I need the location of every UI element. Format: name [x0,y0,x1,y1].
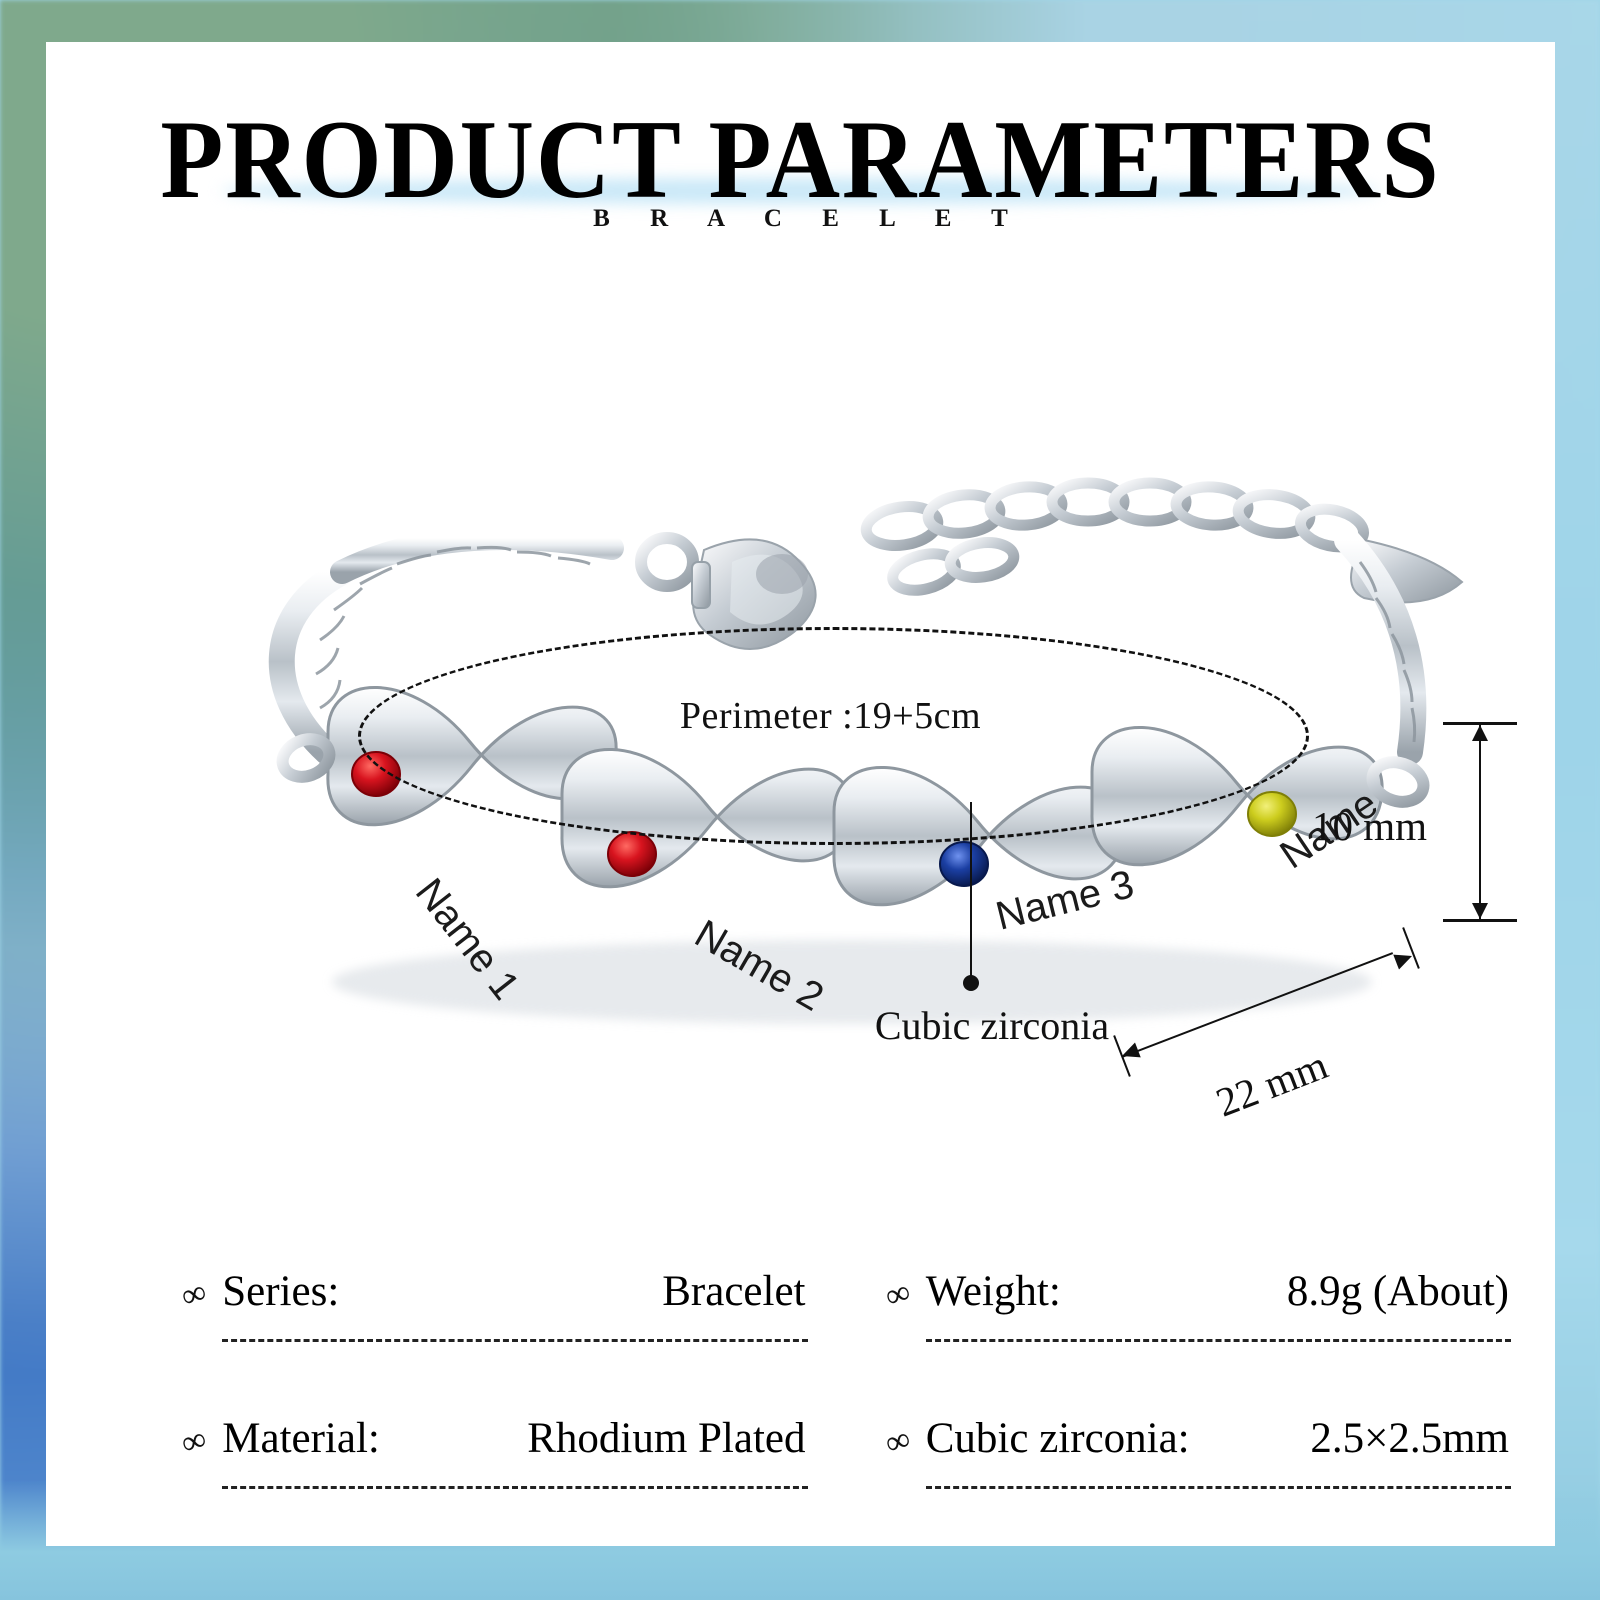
spec-row-series: ∞ Series: Bracelet [182,1267,808,1342]
infinity-icon: ∞ [881,1422,915,1462]
spec-label: Cubic zirconia: [926,1414,1190,1463]
callout-dot-icon [963,975,979,991]
product-image: Name 1 Name 2 Name 3 Name Perimeter :19+… [92,422,1600,1182]
infographic-canvas: PRODUCT PARAMETERS B R A C E L E T [0,0,1600,1600]
spec-divider [926,1339,1512,1342]
height-dimension: 10 mm [1437,722,1547,922]
spec-divider [222,1339,808,1342]
spec-row-cubic-zirconia: ∞ Cubic zirconia: 2.5×2.5mm [886,1414,1512,1489]
spec-label: Series: [222,1267,339,1316]
callout-label: Cubic zirconia [827,1002,1157,1049]
white-card: PRODUCT PARAMETERS B R A C E L E T [46,42,1555,1546]
spec-label: Weight: [926,1267,1061,1316]
spec-label: Material: [222,1414,380,1463]
width-dimension: 22 mm [1122,982,1422,1132]
infinity-icon: ∞ [881,1275,915,1315]
spec-divider [222,1486,808,1489]
infinity-icon: ∞ [177,1275,211,1315]
header: PRODUCT PARAMETERS [46,104,1555,216]
page-title: PRODUCT PARAMETERS [106,104,1494,216]
spec-value: Bracelet [662,1267,807,1316]
specifications: ∞ Series: Bracelet ∞ Weight: 8.9g (About… [92,1267,1600,1489]
width-dimension-label: 22 mm [1209,1040,1334,1126]
spec-row-weight: ∞ Weight: 8.9g (About) [886,1267,1512,1342]
dimension-line [1479,725,1481,919]
spec-row-material: ∞ Material: Rhodium Plated [182,1414,808,1489]
height-dimension-label: 10 mm [1247,802,1427,850]
arrow-up-icon [1472,725,1488,741]
arrow-down-icon [1472,903,1488,919]
page-subtitle: B R A C E L E T [46,205,1555,233]
spec-divider [926,1486,1512,1489]
spec-value: 8.9g (About) [1287,1267,1511,1316]
infinity-icon: ∞ [177,1422,211,1462]
dimension-cap-bottom [1443,919,1517,922]
perimeter-label: Perimeter :19+5cm [358,694,1303,738]
spec-value: 2.5×2.5mm [1310,1414,1511,1463]
callout-leader-line [970,802,972,977]
spec-value: Rhodium Plated [527,1414,807,1463]
